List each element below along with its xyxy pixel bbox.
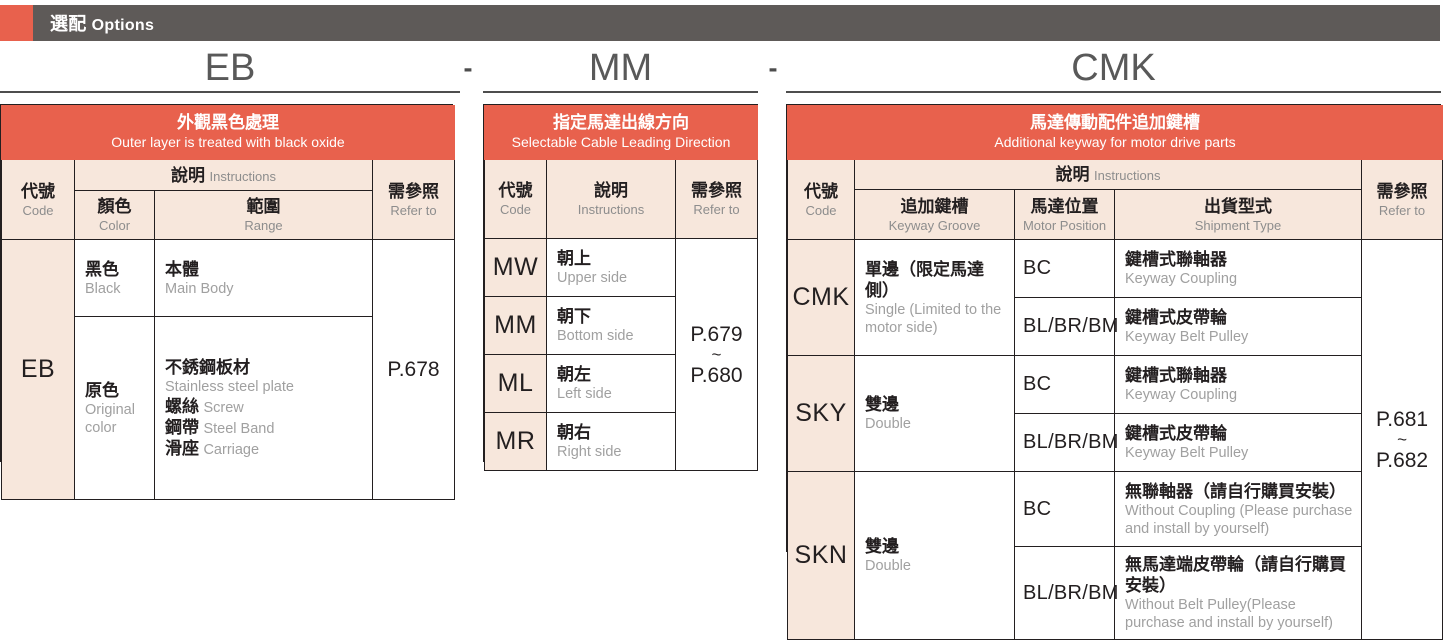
- cell-range-original: 不銹鋼板材 Stainless steel plate 螺絲 Screw 鋼帶 …: [155, 317, 373, 500]
- options-title-en: Options: [92, 17, 155, 34]
- range-item: 不銹鋼板材 Stainless steel plate: [165, 357, 364, 396]
- separator-dash-1: -: [448, 45, 488, 91]
- cell-groove-sky: 雙邊 Double: [855, 356, 1015, 472]
- col-header-instructions-en: Instructions: [547, 201, 675, 218]
- cell-shipment-skn-bc: 無聯軸器（請自行購買安裝） Without Coupling (Please p…: [1115, 472, 1362, 547]
- col-header-refer-en: Refer to: [373, 202, 454, 219]
- direction-label: 朝下 Bottom side: [557, 306, 667, 345]
- col-header-code-cjk: 代號: [485, 180, 546, 201]
- cell-motorpos-sky-blbrbm: BL/BR/BM: [1015, 414, 1115, 472]
- col-header-code: 代號 Code: [2, 160, 75, 240]
- cell-shipment-skn-blbrbm: 無馬達端皮帶輪（請自行購買安裝） Without Belt Pulley(Ple…: [1115, 547, 1362, 640]
- cell-direction-mr: 朝右 Right side: [547, 413, 676, 471]
- col-header-refer-cjk: 需參照: [373, 181, 454, 202]
- table-row: EB 黑色 Black 本體 Main Body P.678: [2, 240, 455, 317]
- cell-motorpos-skn-bc: BC: [1015, 472, 1115, 547]
- refer-to: P.682: [1362, 448, 1442, 473]
- col-header-code-cjk: 代號: [788, 181, 854, 202]
- cell-code-mr: MR: [485, 413, 547, 471]
- direction-label: 朝上 Upper side: [557, 248, 667, 287]
- shipment-label: 鍵槽式皮帶輪 Keyway Belt Pulley: [1125, 307, 1353, 346]
- cell-motorpos-skn-blbrbm: BL/BR/BM: [1015, 547, 1115, 640]
- group-title-cmk: CMK: [786, 45, 1441, 93]
- cell-direction-mw: 朝上 Upper side: [547, 239, 676, 297]
- cell-refer-mm: P.679 ~ P.680: [676, 239, 758, 471]
- col-header-shipment-type: 出貨型式 Shipment Type: [1115, 190, 1362, 240]
- cell-motorpos-sky-bc: BC: [1015, 356, 1115, 414]
- col-header-keyway-groove-en: Keyway Groove: [855, 217, 1014, 234]
- table-eb-title-cjk: 外觀黑色處理: [6, 112, 450, 133]
- cell-shipment-cmk-blbrbm: 鍵槽式皮帶輪 Keyway Belt Pulley: [1115, 298, 1362, 356]
- refer-to: P.680: [676, 363, 757, 388]
- col-header-color-en: Color: [75, 217, 154, 234]
- direction-label: 朝右 Right side: [557, 422, 667, 461]
- table-eb-title-en: Outer layer is treated with black oxide: [6, 133, 450, 151]
- shipment-label: 鍵槽式聯軸器 Keyway Coupling: [1125, 249, 1353, 288]
- cell-color-black: 黑色 Black: [75, 240, 155, 317]
- cell-code-eb: EB: [2, 240, 75, 500]
- table-cmk: 馬達傳動配件追加鍵槽 Additional keyway for motor d…: [786, 104, 1441, 552]
- col-header-refer-cjk: 需參照: [676, 180, 757, 201]
- cell-range-mainbody: 本體 Main Body: [155, 240, 373, 317]
- direction-label: 朝左 Left side: [557, 364, 667, 403]
- col-header-code-en: Code: [2, 202, 74, 219]
- col-header-range-cjk: 範圍: [155, 196, 372, 217]
- color-original: 原色 Original color: [85, 380, 146, 437]
- options-title-cjk: 選配: [50, 14, 87, 34]
- refer-from: P.679: [676, 322, 757, 347]
- table-row: 追加鍵槽 Keyway Groove 馬達位置 Motor Position 出…: [788, 190, 1443, 240]
- col-header-refer-en: Refer to: [676, 201, 757, 218]
- table-row: 馬達傳動配件追加鍵槽 Additional keyway for motor d…: [788, 106, 1443, 160]
- cell-code-cmk: CMK: [788, 240, 855, 356]
- cell-direction-ml: 朝左 Left side: [547, 355, 676, 413]
- range-item: 螺絲 Screw: [165, 396, 364, 417]
- cell-code-sky: SKY: [788, 356, 855, 472]
- range-item: 本體 Main Body: [165, 259, 364, 298]
- cell-direction-mm: 朝下 Bottom side: [547, 297, 676, 355]
- col-header-keyway-groove-cjk: 追加鍵槽: [855, 196, 1014, 217]
- col-header-code-cjk: 代號: [2, 181, 74, 202]
- cell-groove-cmk: 單邊（限定馬達側） Single (Limited to the motor s…: [855, 240, 1015, 356]
- col-header-code: 代號 Code: [485, 160, 547, 239]
- cell-motorpos-cmk-blbrbm: BL/BR/BM: [1015, 298, 1115, 356]
- table-cmk-title: 馬達傳動配件追加鍵槽 Additional keyway for motor d…: [788, 106, 1443, 160]
- table-cmk-grid: 馬達傳動配件追加鍵槽 Additional keyway for motor d…: [787, 105, 1443, 640]
- col-header-range-en: Range: [155, 217, 372, 234]
- cell-shipment-sky-bc: 鍵槽式聯軸器 Keyway Coupling: [1115, 356, 1362, 414]
- table-cmk-title-en: Additional keyway for motor drive parts: [792, 133, 1438, 151]
- refer-tilde: ~: [676, 347, 757, 363]
- group-title-eb: EB: [0, 45, 460, 93]
- cell-refer-eb: P.678: [373, 240, 455, 500]
- shipment-label: 鍵槽式皮帶輪 Keyway Belt Pulley: [1125, 423, 1353, 462]
- col-header-motor-position-en: Motor Position: [1015, 217, 1114, 234]
- col-header-code: 代號 Code: [788, 160, 855, 240]
- table-eb-grid: 外觀黑色處理 Outer layer is treated with black…: [1, 105, 455, 500]
- range-item: 滑座 Carriage: [165, 438, 364, 459]
- group-titles-row: EB - MM - CMK: [0, 45, 1445, 103]
- color-black: 黑色 Black: [85, 259, 146, 298]
- table-mm-title: 指定馬達出線方向 Selectable Cable Leading Direct…: [485, 106, 758, 160]
- table-mm-grid: 指定馬達出線方向 Selectable Cable Leading Direct…: [484, 105, 758, 471]
- col-header-instructions-en: Instructions: [1094, 168, 1160, 183]
- table-row: CMK 單邊（限定馬達側） Single (Limited to the mot…: [788, 240, 1443, 298]
- table-mm-title-cjk: 指定馬達出線方向: [489, 112, 753, 133]
- table-row: MW 朝上 Upper side P.679 ~ P.680: [485, 239, 758, 297]
- col-header-instructions: 說明 Instructions: [855, 160, 1362, 190]
- col-header-refer-en: Refer to: [1362, 202, 1442, 219]
- options-header-bar: 選配 Options: [0, 5, 1440, 41]
- table-mm-title-en: Selectable Cable Leading Direction: [489, 133, 753, 151]
- col-header-refer: 需參照 Refer to: [373, 160, 455, 240]
- shipment-label: 無聯軸器（請自行購買安裝） Without Coupling (Please p…: [1125, 481, 1353, 538]
- col-header-color: 顏色 Color: [75, 191, 155, 240]
- table-row: 外觀黑色處理 Outer layer is treated with black…: [2, 106, 455, 160]
- col-header-shipment-type-cjk: 出貨型式: [1115, 196, 1361, 217]
- table-eb-title: 外觀黑色處理 Outer layer is treated with black…: [2, 106, 455, 160]
- col-header-refer: 需參照 Refer to: [676, 160, 758, 239]
- cell-code-mw: MW: [485, 239, 547, 297]
- shipment-label: 鍵槽式聯軸器 Keyway Coupling: [1125, 365, 1353, 404]
- table-row: 代號 Code 說明 Instructions 需參照 Refer to: [485, 160, 758, 239]
- cell-refer-cmk: P.681 ~ P.682: [1362, 240, 1443, 640]
- cell-code-ml: ML: [485, 355, 547, 413]
- col-header-instructions-cjk: 說明: [1056, 165, 1090, 184]
- cell-code-mm: MM: [485, 297, 547, 355]
- col-header-shipment-type-en: Shipment Type: [1115, 217, 1361, 234]
- col-header-instructions-cjk: 說明: [171, 166, 205, 185]
- table-row: 代號 Code 說明 Instructions 需參照 Refer to: [2, 160, 455, 191]
- group-title-mm: MM: [483, 45, 758, 93]
- col-header-instructions-en: Instructions: [209, 169, 275, 184]
- cell-shipment-cmk-bc: 鍵槽式聯軸器 Keyway Coupling: [1115, 240, 1362, 298]
- col-header-instructions: 說明 Instructions: [75, 160, 373, 191]
- range-item: 鋼帶 Steel Band: [165, 417, 364, 438]
- table-mm: 指定馬達出線方向 Selectable Cable Leading Direct…: [483, 104, 758, 462]
- table-cmk-title-cjk: 馬達傳動配件追加鍵槽: [792, 112, 1438, 133]
- col-header-range: 範圍 Range: [155, 191, 373, 240]
- accent-block: [0, 5, 33, 41]
- refer-from: P.681: [1362, 407, 1442, 432]
- cell-color-original: 原色 Original color: [75, 317, 155, 500]
- col-header-motor-position-cjk: 馬達位置: [1015, 196, 1114, 217]
- col-header-instructions: 說明 Instructions: [547, 160, 676, 239]
- col-header-refer-cjk: 需參照: [1362, 181, 1442, 202]
- col-header-refer: 需參照 Refer to: [1362, 160, 1443, 240]
- col-header-code-en: Code: [788, 202, 854, 219]
- col-header-code-en: Code: [485, 201, 546, 218]
- shipment-label: 無馬達端皮帶輪（請自行購買安裝） Without Belt Pulley(Ple…: [1125, 554, 1353, 632]
- table-row: SKN 雙邊 Double BC 無聯軸器（請自行購買安裝） Without C…: [788, 472, 1443, 547]
- table-eb: 外觀黑色處理 Outer layer is treated with black…: [0, 104, 453, 462]
- refer-tilde: ~: [1362, 432, 1442, 448]
- table-row: 代號 Code 說明 Instructions 需參照 Refer to: [788, 160, 1443, 190]
- table-row: SKY 雙邊 Double BC 鍵槽式聯軸器 Keyway Coupling: [788, 356, 1443, 414]
- cell-motorpos-cmk-bc: BC: [1015, 240, 1115, 298]
- table-row: 指定馬達出線方向 Selectable Cable Leading Direct…: [485, 106, 758, 160]
- col-header-keyway-groove: 追加鍵槽 Keyway Groove: [855, 190, 1015, 240]
- col-header-instructions-cjk: 說明: [547, 180, 675, 201]
- groove-label: 單邊（限定馬達側） Single (Limited to the motor s…: [865, 259, 1006, 337]
- options-title: 選配 Options: [50, 10, 154, 36]
- cell-shipment-sky-blbrbm: 鍵槽式皮帶輪 Keyway Belt Pulley: [1115, 414, 1362, 472]
- col-header-motor-position: 馬達位置 Motor Position: [1015, 190, 1115, 240]
- col-header-color-cjk: 顏色: [75, 196, 154, 217]
- groove-label: 雙邊 Double: [865, 394, 1006, 433]
